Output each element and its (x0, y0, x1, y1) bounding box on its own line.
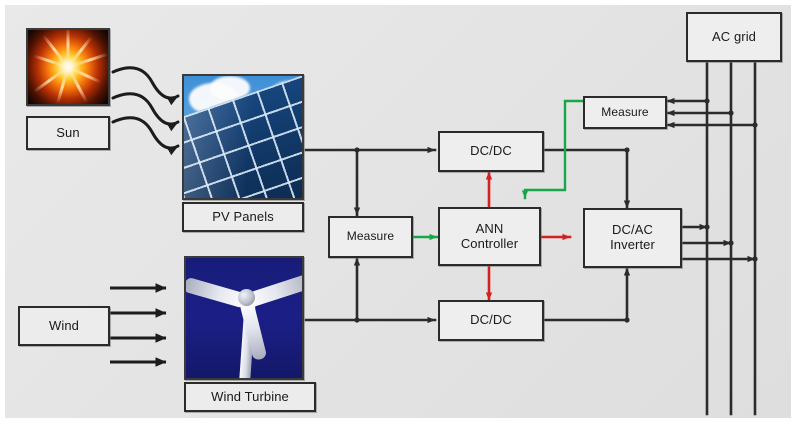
diagram-root: Sun PV Panels Wind Wind Turbine Measure … (0, 0, 800, 426)
image-frame (0, 0, 800, 426)
